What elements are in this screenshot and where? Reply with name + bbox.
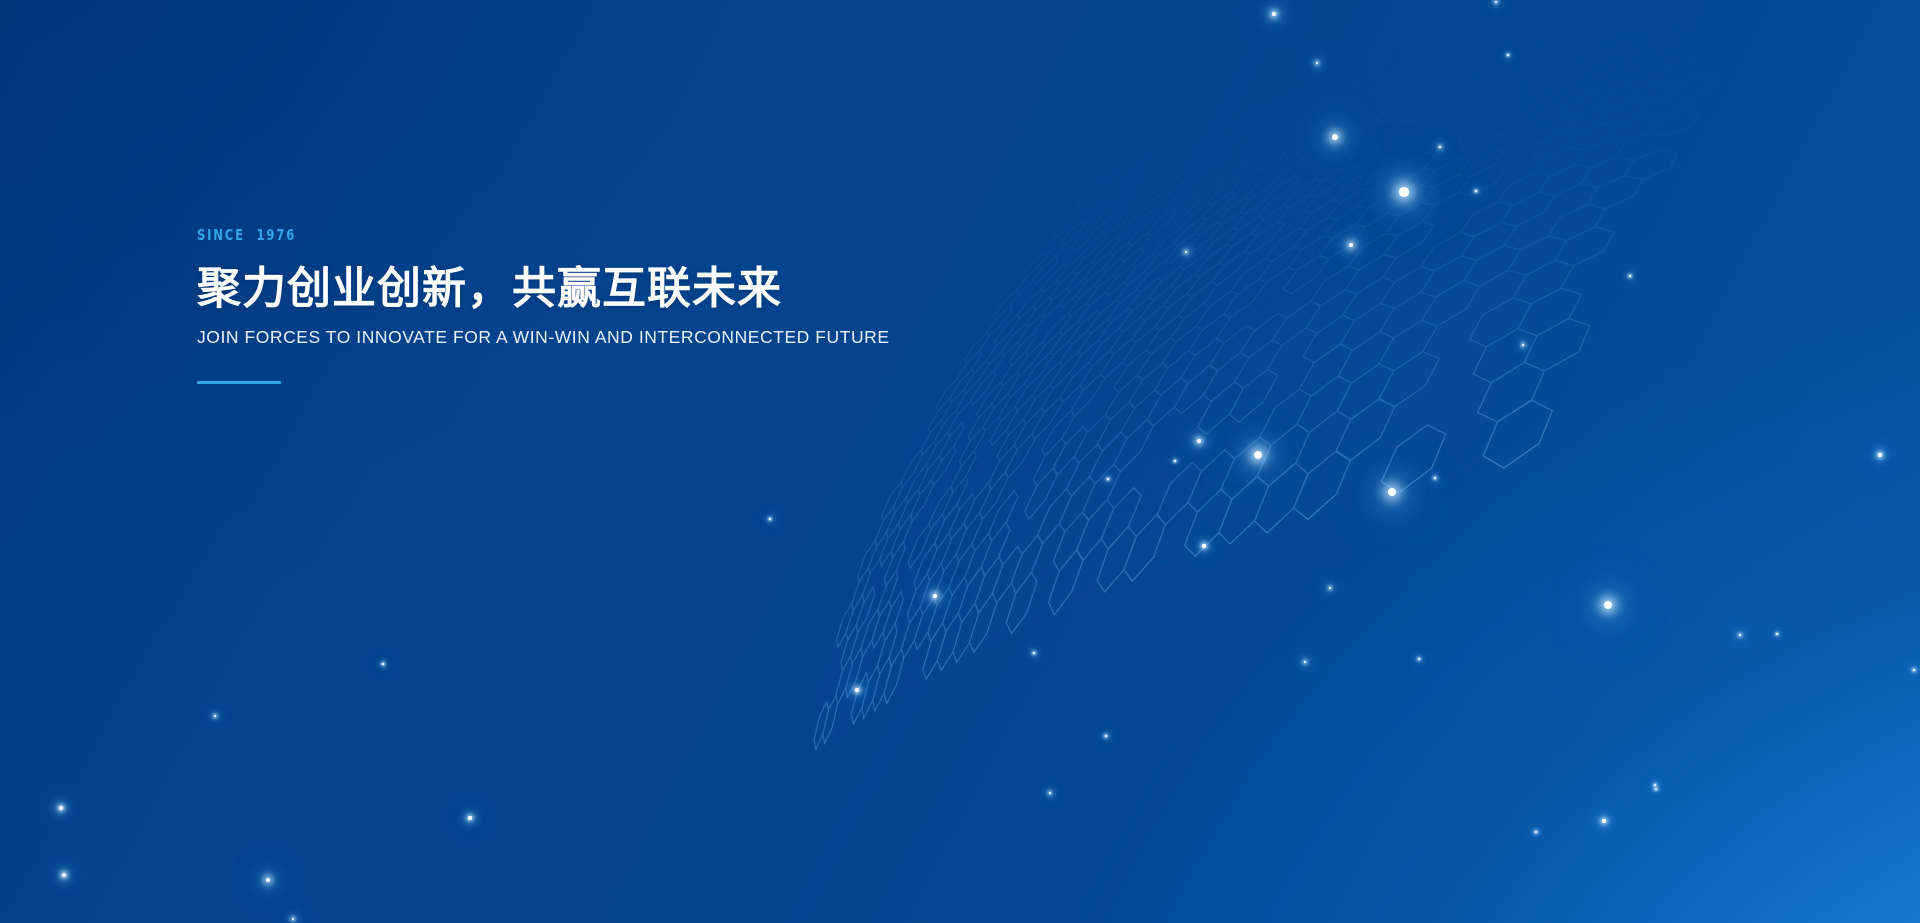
- hero-copy-block: SINCE 1976 聚力创业创新，共赢互联未来 JOIN FORCES TO …: [197, 228, 1197, 384]
- accent-divider: [197, 381, 281, 384]
- page-subtitle: JOIN FORCES TO INNOVATE FOR A WIN-WIN AN…: [197, 327, 1197, 349]
- page-title: 聚力创业创新，共赢互联未来: [197, 265, 1197, 313]
- since-year-label: SINCE 1976: [197, 228, 1057, 243]
- hero-banner: SINCE 1976 聚力创业创新，共赢互联未来 JOIN FORCES TO …: [0, 0, 1920, 923]
- hexagon-mesh-icon: [0, 0, 1920, 923]
